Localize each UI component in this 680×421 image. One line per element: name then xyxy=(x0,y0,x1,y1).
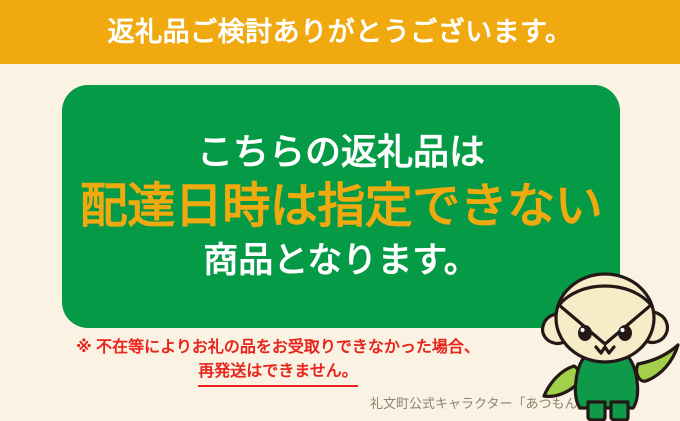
mascot-left-leg-icon xyxy=(588,402,605,420)
warning-line-2-underlined: 再発送はできません。 xyxy=(198,360,358,387)
mascot-right-leg-icon xyxy=(611,402,628,420)
mascot-right-ear-icon xyxy=(639,312,667,343)
mascot-right-eye-highlight-icon xyxy=(620,328,624,332)
mascot-right-leaf-arm-icon xyxy=(637,345,678,381)
delivery-notice-card: こちらの返礼品は 配達日時は指定できない 商品となります。 xyxy=(62,85,620,328)
notice-line-2-highlight: 配達日時は指定できない xyxy=(80,181,603,233)
warning-line-1: ※ 不在等によりお礼の品をお受取りできなかった場合、 xyxy=(0,336,556,360)
mascot-caption: 礼文町公式キャラクター「あつもん」 xyxy=(370,393,575,412)
mascot-left-eye-highlight-icon xyxy=(580,328,584,332)
mascot-right-eye-icon xyxy=(618,325,632,341)
notice-line-3: 商品となります。 xyxy=(203,242,478,280)
notice-line-1: こちらの返礼品は xyxy=(197,133,485,172)
mascot-mouth-icon xyxy=(596,347,614,353)
promo-banner-canvas: 返礼品ご検討ありがとうございます。 こちらの返礼品は 配達日時は指定できない 商… xyxy=(0,0,680,421)
header-title: 返礼品ご検討ありがとうございます。 xyxy=(108,19,573,46)
warning-block: ※ 不在等によりお礼の品をお受取りできなかった場合、 再発送はできません。 xyxy=(0,336,556,387)
header-banner: 返礼品ご検討ありがとうございます。 xyxy=(0,0,680,64)
